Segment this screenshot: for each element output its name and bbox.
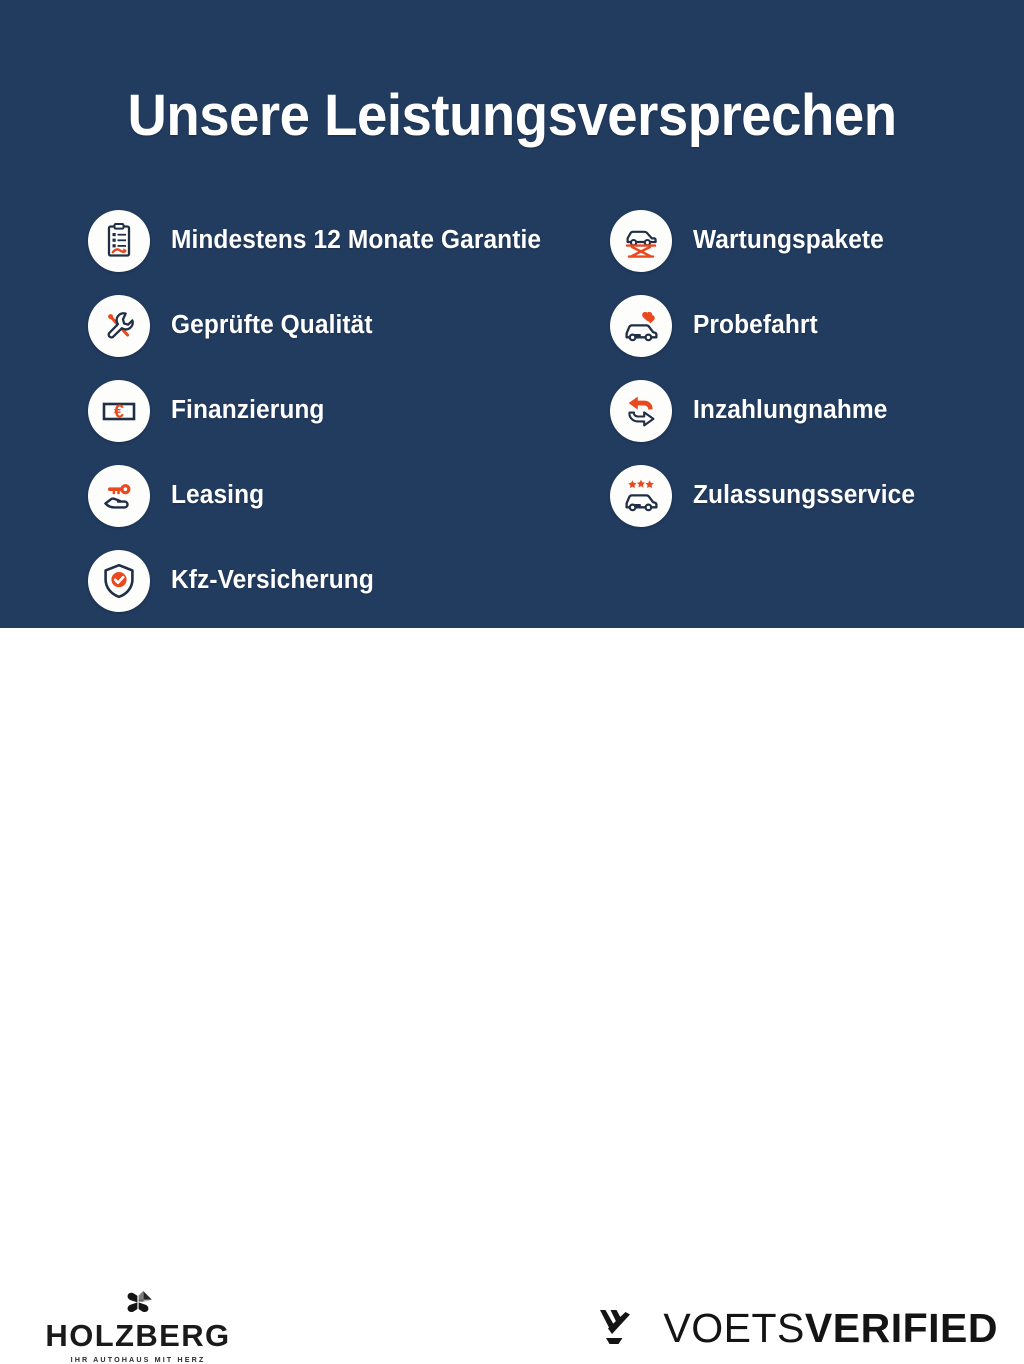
feature-item-wartungspakete: Wartungspakete <box>610 198 1010 283</box>
holzberg-tagline: IHR AUTOHAUS MIT HERZ <box>38 1356 238 1363</box>
feature-item-probefahrt: Probefahrt <box>610 283 1010 368</box>
feature-label: Probefahrt <box>693 311 818 340</box>
wrench-screwdriver-icon <box>88 295 150 357</box>
page-title: Unsere Leistungsversprechen <box>31 82 994 149</box>
car-stars-icon <box>610 465 672 527</box>
car-hearts-icon <box>610 295 672 357</box>
holzberg-wordmark: HOLZBERG <box>38 1320 238 1351</box>
feature-column-left: Mindestens 12 Monate Garantie Geprüfte Q… <box>88 198 588 623</box>
holzberg-logo: HOLZBERG IHR AUTOHAUS MIT HERZ <box>38 1288 238 1363</box>
svg-text:€: € <box>114 401 124 421</box>
shield-check-icon <box>88 550 150 612</box>
feature-label: Finanzierung <box>171 396 324 425</box>
voets-name-bold: VERIFIED <box>805 1305 998 1351</box>
feature-label: Mindestens 12 Monate Garantie <box>171 226 541 255</box>
hero-panel: Unsere Leistungsversprechen <box>0 0 1024 628</box>
voets-name-light: VOETS <box>663 1305 804 1351</box>
feature-label: Inzahlungnahme <box>693 396 887 425</box>
banknote-euro-icon: € <box>88 380 150 442</box>
feature-item-inzahlungnahme: Inzahlungnahme <box>610 368 1010 453</box>
feature-label: Leasing <box>171 481 264 510</box>
clipboard-checklist-icon <box>88 210 150 272</box>
car-lift-icon <box>610 210 672 272</box>
feature-item-versicherung: Kfz-Versicherung <box>88 538 588 623</box>
feature-item-leasing: Leasing <box>88 453 588 538</box>
feature-column-right: Wartungspakete Probefa <box>610 198 1010 538</box>
feature-item-qualitaet: Geprüfte Qualität <box>88 283 588 368</box>
footer-bar: HOLZBERG IHR AUTOHAUS MIT HERZ VOETSVERI… <box>0 628 1024 768</box>
feature-label: Zulassungsservice <box>693 481 915 510</box>
voets-check-icon <box>597 1304 645 1353</box>
feature-item-zulassungsservice: Zulassungsservice <box>610 453 1010 538</box>
voets-wordmark: VOETSVERIFIED <box>663 1308 998 1349</box>
promo-graphic: Unsere Leistungsversprechen <box>0 0 1024 768</box>
feature-label: Wartungspakete <box>693 226 884 255</box>
feature-item-finanzierung: € Finanzierung <box>88 368 588 453</box>
clover-icon <box>38 1288 238 1318</box>
feature-label: Geprüfte Qualität <box>171 311 373 340</box>
hand-key-icon <box>88 465 150 527</box>
feature-label: Kfz-Versicherung <box>171 566 374 595</box>
voets-verified-logo: VOETSVERIFIED <box>597 1304 998 1353</box>
feature-item-garantie: Mindestens 12 Monate Garantie <box>88 198 588 283</box>
exchange-arrows-icon <box>610 380 672 442</box>
